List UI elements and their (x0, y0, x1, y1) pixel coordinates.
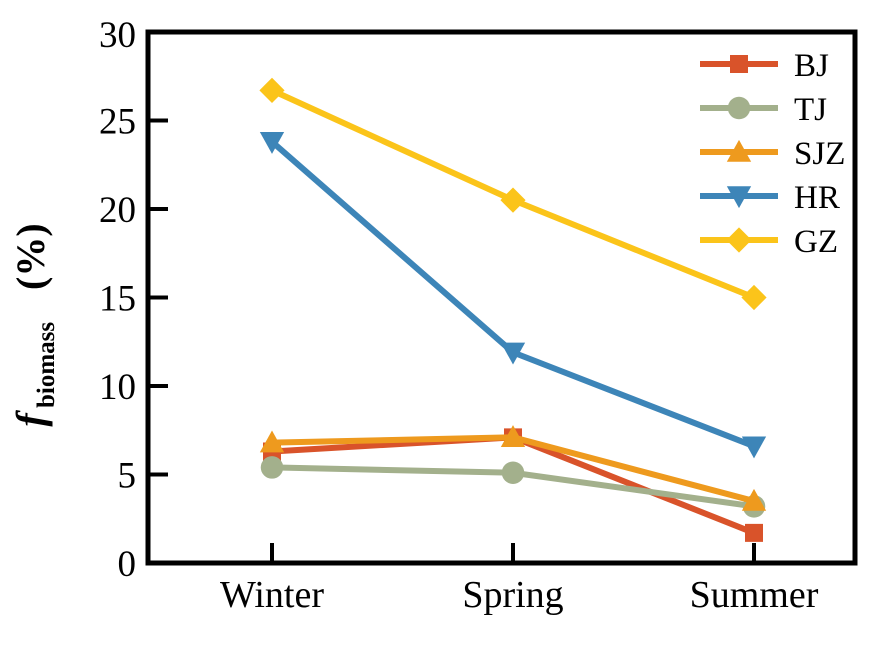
data-point-tj-winter (261, 456, 284, 479)
y-tick-label: 25 (99, 102, 136, 143)
y-tick-label: 30 (99, 15, 136, 56)
y-tick-label: 15 (99, 279, 136, 320)
x-axis-tick-labels: Winter Spring Summer (220, 574, 819, 616)
data-point-tj-spring (502, 461, 525, 484)
x-tick-label-summer: Summer (690, 574, 819, 616)
y-tick-label: 0 (118, 544, 137, 585)
data-point-bj-summer (745, 524, 763, 542)
chart-figure: f biomass (%) 0 5 10 15 20 25 30 (0, 0, 873, 648)
legend-marker-bj (730, 55, 748, 73)
x-tick-label-winter: Winter (220, 574, 324, 616)
y-tick-label: 5 (118, 456, 137, 497)
y-axis-label-subscript: biomass (33, 322, 60, 408)
legend-label-hr: HR (794, 180, 840, 216)
legend-label-gz: GZ (794, 224, 838, 260)
biomass-fraction-line-chart: f biomass (%) 0 5 10 15 20 25 30 (0, 0, 873, 648)
y-tick-label: 20 (99, 190, 136, 231)
legend-label-bj: BJ (794, 48, 829, 84)
legend-marker-tj (728, 97, 751, 120)
legend-label-tj: TJ (794, 92, 827, 128)
legend-label-sjz: SJZ (794, 136, 845, 172)
y-axis-label-unit: (%) (8, 223, 53, 290)
x-tick-label-spring: Spring (462, 574, 563, 616)
y-tick-label: 10 (99, 367, 136, 408)
